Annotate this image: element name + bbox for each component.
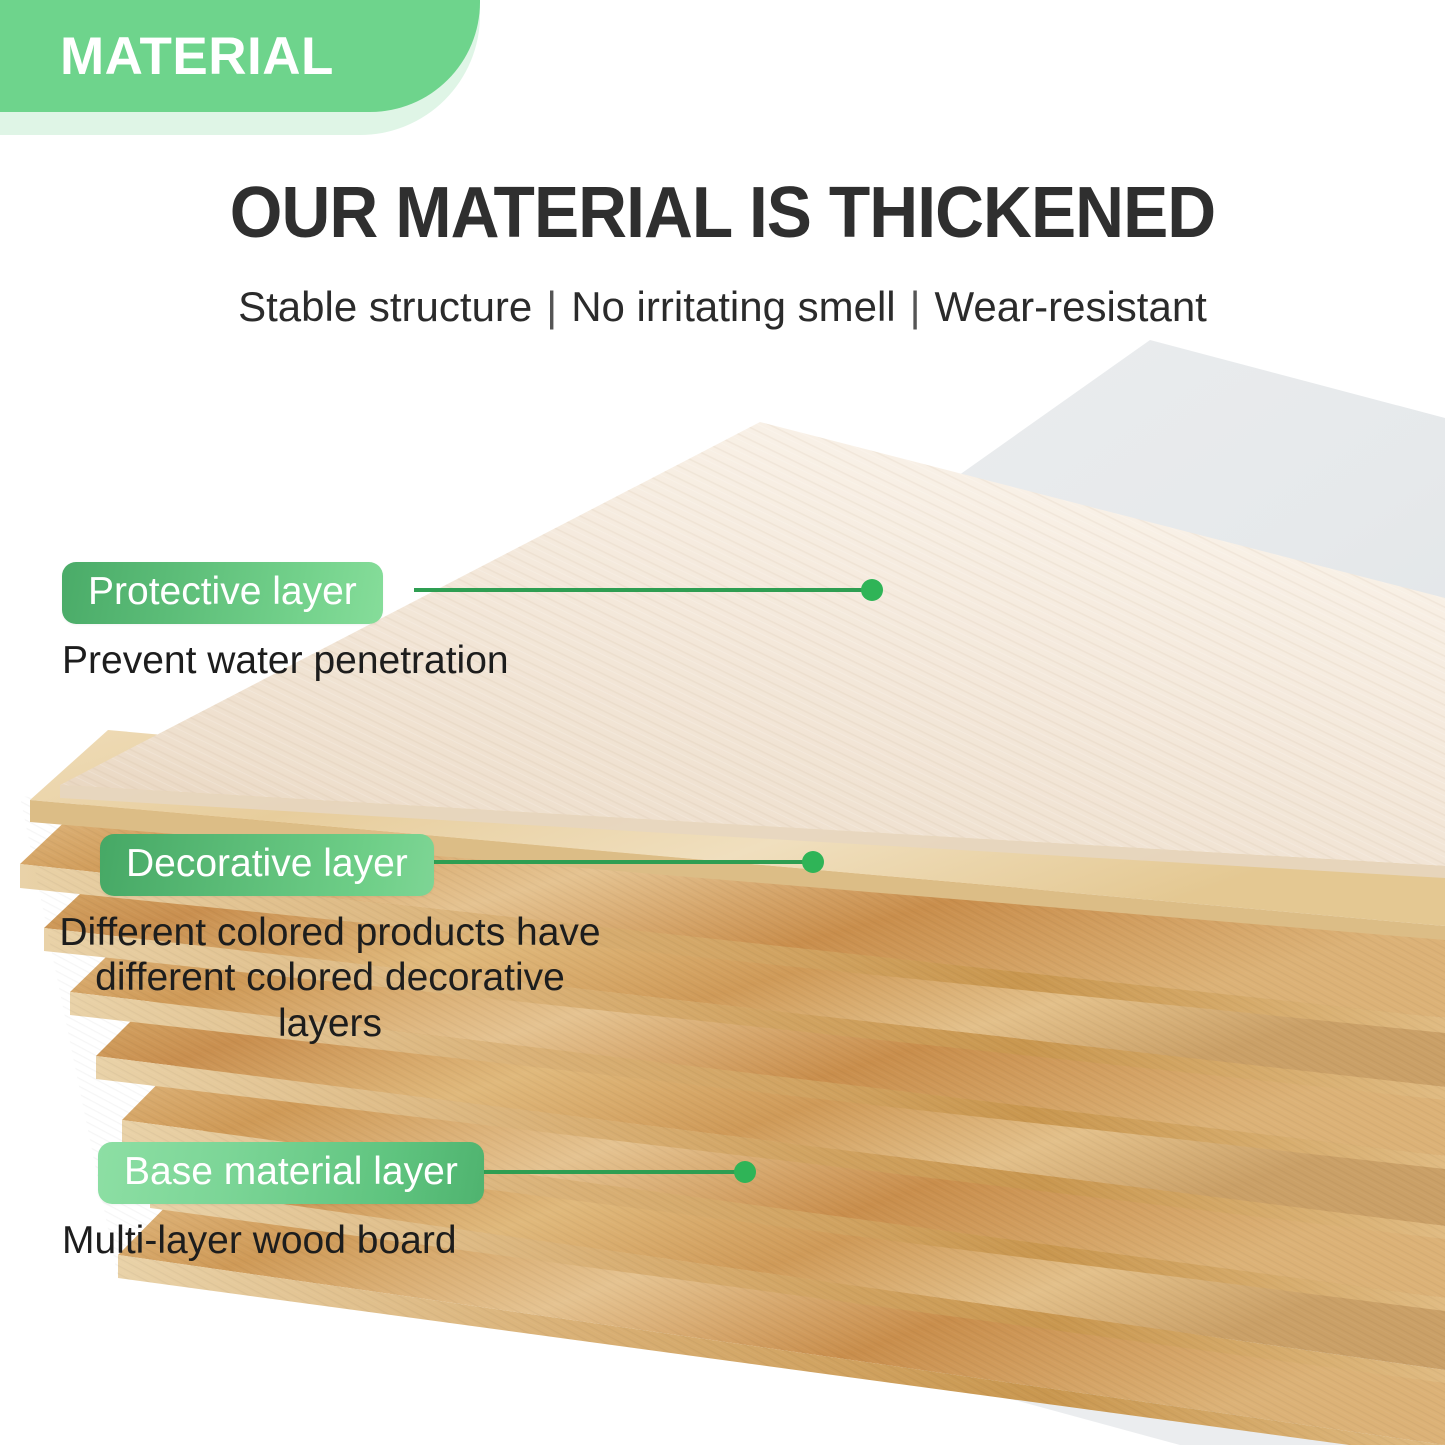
infographic-page: MATERIAL OUR MATERIAL IS THICKENED Stabl… [0, 0, 1445, 1445]
callout-description-line-2: different colored decorative layers [95, 956, 565, 1044]
callout-base-material-layer: Base material layer Multi-layer wood boa… [62, 1142, 484, 1263]
leader-dot-decorative [802, 851, 824, 873]
callout-description-protective-layer: Prevent water penetration [62, 638, 509, 683]
material-banner: MATERIAL [0, 0, 480, 112]
callout-decorative-layer: Decorative layer Different colored produ… [60, 834, 610, 1046]
callout-label-base-material-layer: Base material layer [98, 1142, 484, 1204]
feature-list: Stable structure|No irritating smell|Wea… [0, 283, 1445, 331]
feature-item-2: Wear-resistant [935, 283, 1207, 330]
feature-item-0: Stable structure [238, 283, 532, 330]
leader-dot-base [734, 1161, 756, 1183]
callout-description-line-1: Different colored products have [59, 911, 600, 954]
feature-item-1: No irritating smell [571, 283, 895, 330]
callout-description-base-material-layer: Multi-layer wood board [62, 1218, 484, 1263]
callout-description-decorative-layer: Different colored products have differen… [50, 910, 610, 1046]
callout-label-decorative-layer: Decorative layer [100, 834, 434, 896]
banner-label: MATERIAL [60, 30, 334, 83]
feature-separator-1: | [896, 283, 935, 330]
callout-label-protective-layer: Protective layer [62, 562, 383, 624]
page-title: OUR MATERIAL IS THICKENED [43, 172, 1401, 254]
feature-separator-0: | [532, 283, 571, 330]
leader-dot-protective [861, 579, 883, 601]
callout-protective-layer: Protective layer Prevent water penetrati… [62, 562, 509, 683]
